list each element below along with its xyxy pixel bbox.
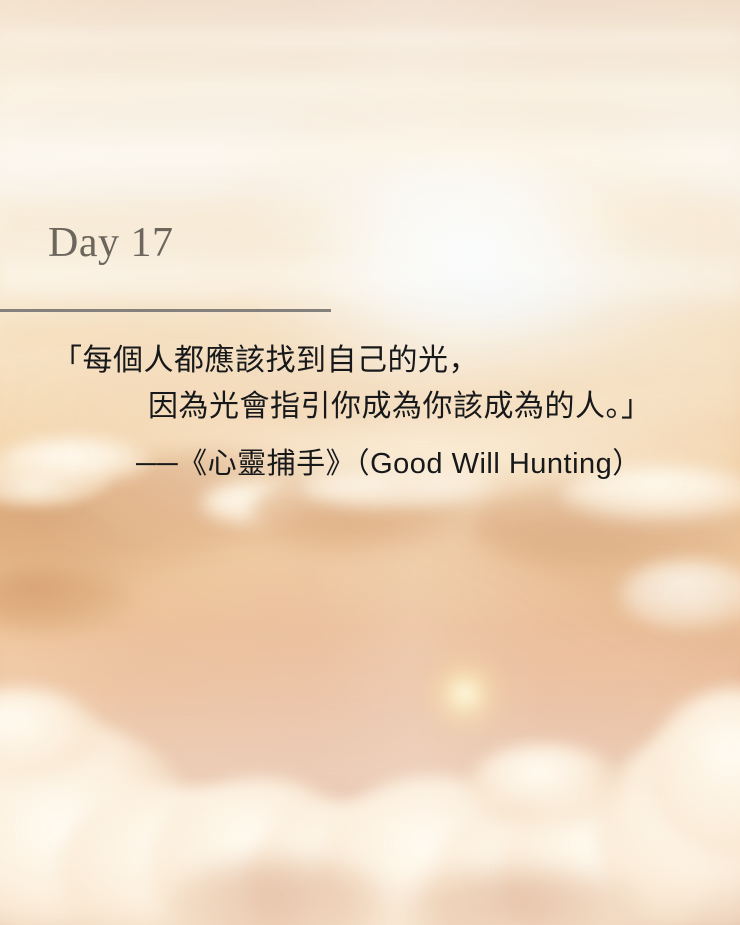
quote-block: 「每個人都應該找到自己的光， 因為光會指引你成為你該成為的人。」 [52, 338, 692, 430]
quote-attribution: ──《心靈捕手》（Good Will Hunting） [136, 444, 642, 484]
poster-content: Day 17 「每個人都應該找到自己的光， 因為光會指引你成為你該成為的人。」 … [0, 0, 740, 925]
quote-line-2: 因為光會指引你成為你該成為的人。」 [52, 384, 692, 430]
day-label: Day 17 [48, 222, 173, 264]
quote-poster: Day 17 「每個人都應該找到自己的光， 因為光會指引你成為你該成為的人。」 … [0, 0, 740, 925]
quote-line-1: 「每個人都應該找到自己的光， [52, 338, 692, 384]
divider-rule [0, 309, 331, 312]
